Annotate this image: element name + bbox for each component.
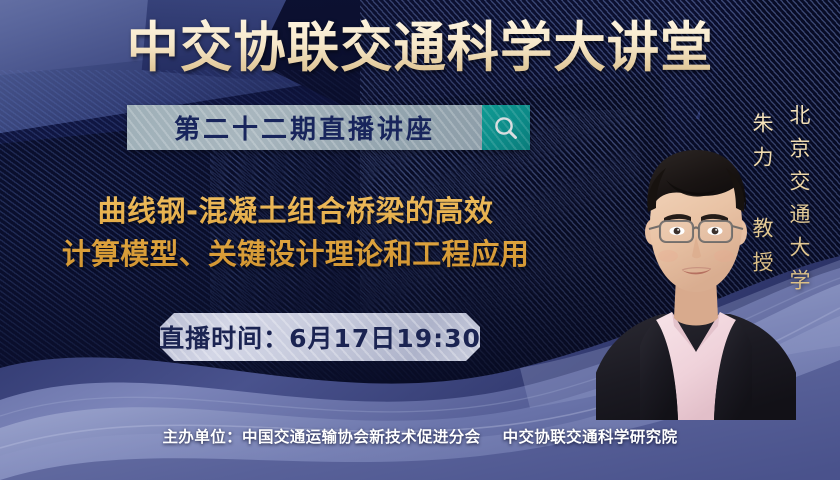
lecture-topic-line2: 计算模型、关键设计理论和工程应用 [8,233,583,276]
footer-organizer-2: 中交协联交通科学研究院 [503,428,678,446]
footer-organizer-label: 主办单位： [163,428,243,446]
footer-organizer-1: 中国交通运输协会新技术促进分会 [242,428,481,446]
speaker-organization: 北京交通大学 [784,104,814,302]
session-bar-body: 第二十二期直播讲座 [127,105,482,150]
lecture-topic: 曲线钢-混凝土组合桥梁的高效 计算模型、关键设计理论和工程应用 [8,190,583,276]
webinar-poster: 中交协联交通科学大讲堂 第二十二期直播讲座 曲线钢-混凝土组合桥梁的高效 计算模… [0,0,840,480]
session-label: 第二十二期直播讲座 [174,109,435,146]
live-time-text: 直播时间：6月17日19:30 [160,319,480,355]
search-icon[interactable] [482,105,530,150]
live-time-badge: 直播时间：6月17日19:30 [160,313,480,361]
session-bar[interactable]: 第二十二期直播讲座 [127,105,530,150]
speaker-name: 朱力 教授 [747,112,777,285]
footer-organizers: 主办单位：中国交通运输协会新技术促进分会中交协联交通科学研究院 [0,425,840,447]
lecture-topic-line1: 曲线钢-混凝土组合桥梁的高效 [8,190,583,233]
page-title: 中交协联交通科学大讲堂 [13,17,828,79]
